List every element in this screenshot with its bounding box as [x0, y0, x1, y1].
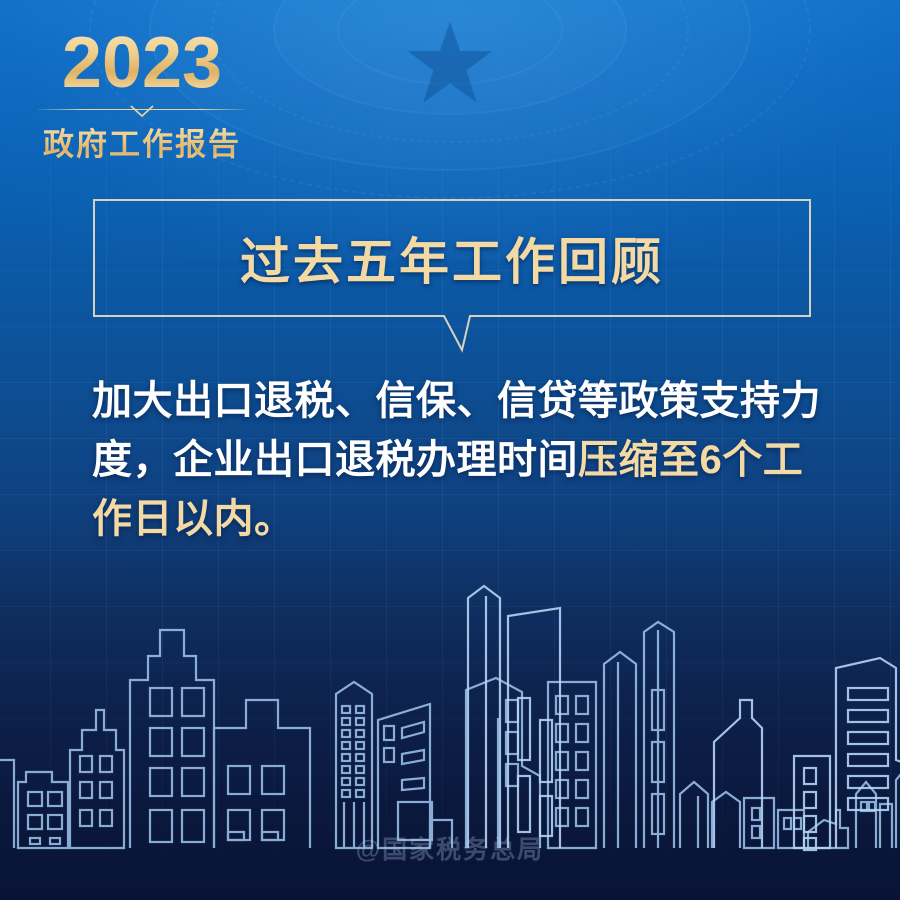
section-banner: 过去五年工作回顾 — [92, 198, 812, 363]
watermark: @国家税务总局 — [0, 830, 900, 866]
logo-divider — [32, 103, 252, 117]
logo-subtitle: 政府工作报告 — [32, 119, 252, 164]
body-text-highlight: 作日以内。 — [92, 497, 295, 541]
report-logo: 2023 政府工作报告 — [32, 28, 252, 164]
logo-year: 2023 — [32, 28, 252, 99]
chevron-down-icon — [129, 105, 155, 118]
body-line: 作日以内。 — [92, 490, 840, 549]
body-line: 加大出口退税、信保、信贷等政策支持力 — [92, 372, 840, 431]
five-point-star-icon — [404, 18, 496, 106]
body-line: 度，企业出口退税办理时间压缩至6个工 — [92, 431, 840, 490]
body-text-highlight: 压缩至6个工 — [578, 438, 803, 482]
body-paragraph: 加大出口退税、信保、信贷等政策支持力 度，企业出口退税办理时间压缩至6个工 作日… — [92, 372, 840, 550]
poster-canvas: 2023 政府工作报告 过去五年工作回顾 加大出口退税、信保、信贷等政策支持力 … — [0, 0, 900, 900]
body-text-plain: 加大出口退税、信保、信贷等政策支持力 — [92, 379, 821, 423]
body-text-plain: 度，企业出口退税办理时间 — [92, 438, 578, 482]
banner-title: 过去五年工作回顾 — [92, 198, 812, 318]
